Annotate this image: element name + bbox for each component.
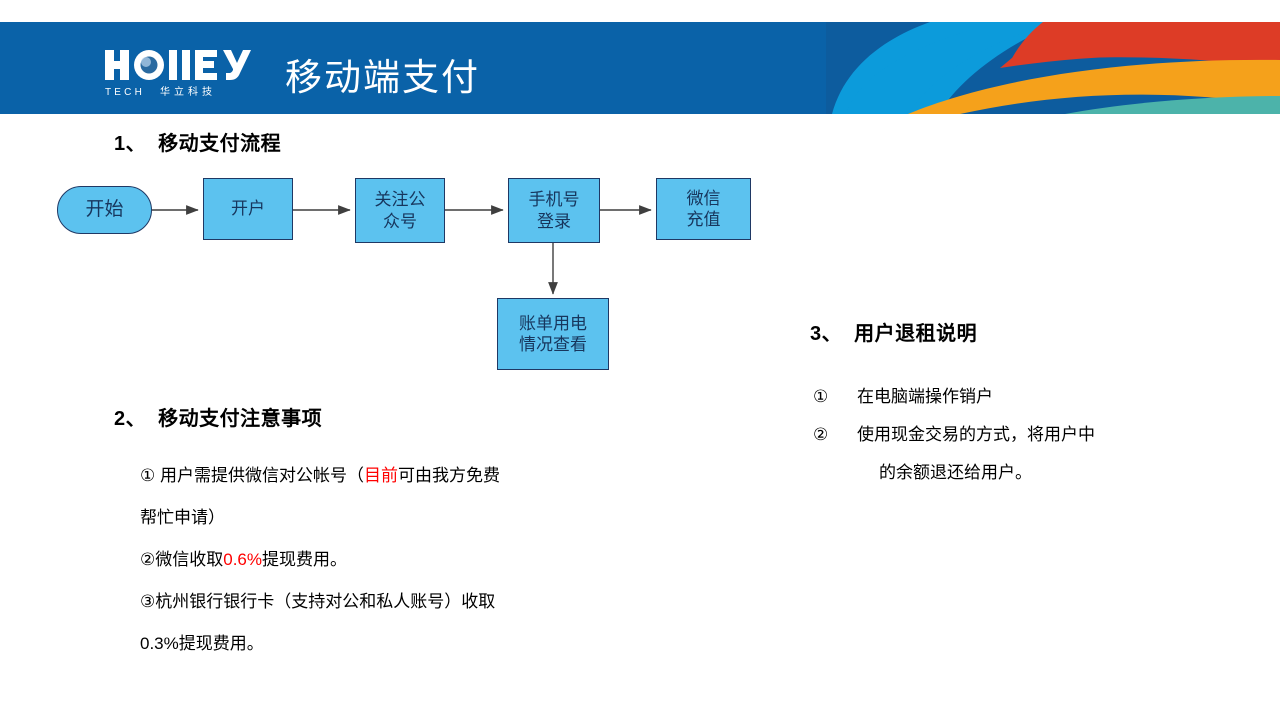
flow-node-wechat-topup[interactable]: 微信 充值 — [656, 178, 751, 240]
list-item-line1: 在电脑端操作销户 — [857, 387, 993, 406]
plain-text: 提现费用。 — [262, 550, 347, 569]
list-item-text: 在电脑端操作销户 — [857, 378, 1233, 416]
highlighted-text: 目前 — [364, 466, 398, 485]
list-item-marker: ② — [813, 416, 857, 454]
svg-text:华立科技: 华立科技 — [160, 85, 216, 98]
slide-header: TECH 华立科技 移动端支付 — [0, 22, 1280, 114]
highlighted-text: 0.6% — [223, 550, 262, 569]
flow-node-start-label: 开始 — [85, 198, 123, 222]
list-item-line1: 使用现金交易的方式，将用户中 — [857, 425, 1095, 444]
section-1-number: 1、 — [114, 133, 146, 155]
section-2-line: ① 用户需提供微信对公帐号（目前可由我方免费 — [140, 455, 660, 497]
section-2-number: 2、 — [114, 408, 146, 430]
flow-node-start[interactable]: 开始 — [57, 186, 152, 234]
holley-logo: TECH 华立科技 — [105, 48, 270, 100]
plain-text: ① 用户需提供微信对公帐号（ — [140, 466, 364, 485]
section-2-line: 帮忙申请） — [140, 497, 660, 539]
flow-node-topup-line1: 微信 — [687, 188, 721, 209]
section-3-list-item: ①在电脑端操作销户 — [813, 378, 1233, 416]
plain-text: ②微信收取 — [140, 550, 223, 569]
list-item-text: 使用现金交易的方式，将用户中的余额退还给用户。 — [857, 416, 1233, 492]
flow-node-follow-line2: 众号 — [375, 211, 426, 232]
section-3-title: 用户退租说明 — [854, 323, 977, 345]
section-2-line: 0.3%提现费用。 — [140, 623, 660, 665]
section-3-number: 3、 — [810, 323, 842, 345]
flow-node-follow-official-account[interactable]: 关注公 众号 — [355, 178, 445, 243]
plain-text: 帮忙申请） — [140, 508, 225, 527]
flow-node-topup-line2: 充值 — [687, 209, 721, 230]
section-2-line: ②微信收取0.6%提现费用。 — [140, 539, 660, 581]
section-2-heading: 2、移动支付注意事项 — [114, 402, 322, 431]
plain-text: ③杭州银行银行卡（支持对公和私人账号）收取 — [140, 592, 495, 611]
list-item-line2: 的余额退还给用户。 — [857, 454, 1233, 492]
flow-node-bill-usage-query[interactable]: 账单用电 情况查看 — [497, 298, 609, 370]
section-3-list-item: ②使用现金交易的方式，将用户中的余额退还给用户。 — [813, 416, 1233, 492]
flow-node-login-line1: 手机号 — [529, 189, 580, 210]
section-3-body: ①在电脑端操作销户②使用现金交易的方式，将用户中的余额退还给用户。 — [813, 378, 1233, 492]
svg-text:TECH: TECH — [105, 87, 145, 98]
slide-title: 移动端支付 — [285, 47, 480, 101]
flow-node-phone-login[interactable]: 手机号 登录 — [508, 178, 600, 243]
section-1-title: 移动支付流程 — [158, 133, 281, 155]
flow-node-open-account-label: 开户 — [231, 198, 265, 219]
list-item-marker: ① — [813, 378, 857, 416]
flow-node-follow-line1: 关注公 — [375, 189, 426, 210]
plain-text: 可由我方免费 — [398, 466, 500, 485]
section-2-body: ① 用户需提供微信对公帐号（目前可由我方免费帮忙申请）②微信收取0.6%提现费用… — [140, 455, 660, 665]
flow-node-open-account[interactable]: 开户 — [203, 178, 293, 240]
section-2-title: 移动支付注意事项 — [158, 408, 322, 430]
flow-node-login-line2: 登录 — [529, 211, 580, 232]
plain-text: 0.3%提现费用。 — [140, 634, 264, 653]
section-3-heading: 3、用户退租说明 — [810, 317, 977, 346]
flow-node-bill-line2: 情况查看 — [519, 334, 587, 355]
flow-node-bill-line1: 账单用电 — [519, 313, 587, 334]
section-1-heading: 1、移动支付流程 — [114, 127, 281, 156]
section-2-line: ③杭州银行银行卡（支持对公和私人账号）收取 — [140, 581, 660, 623]
